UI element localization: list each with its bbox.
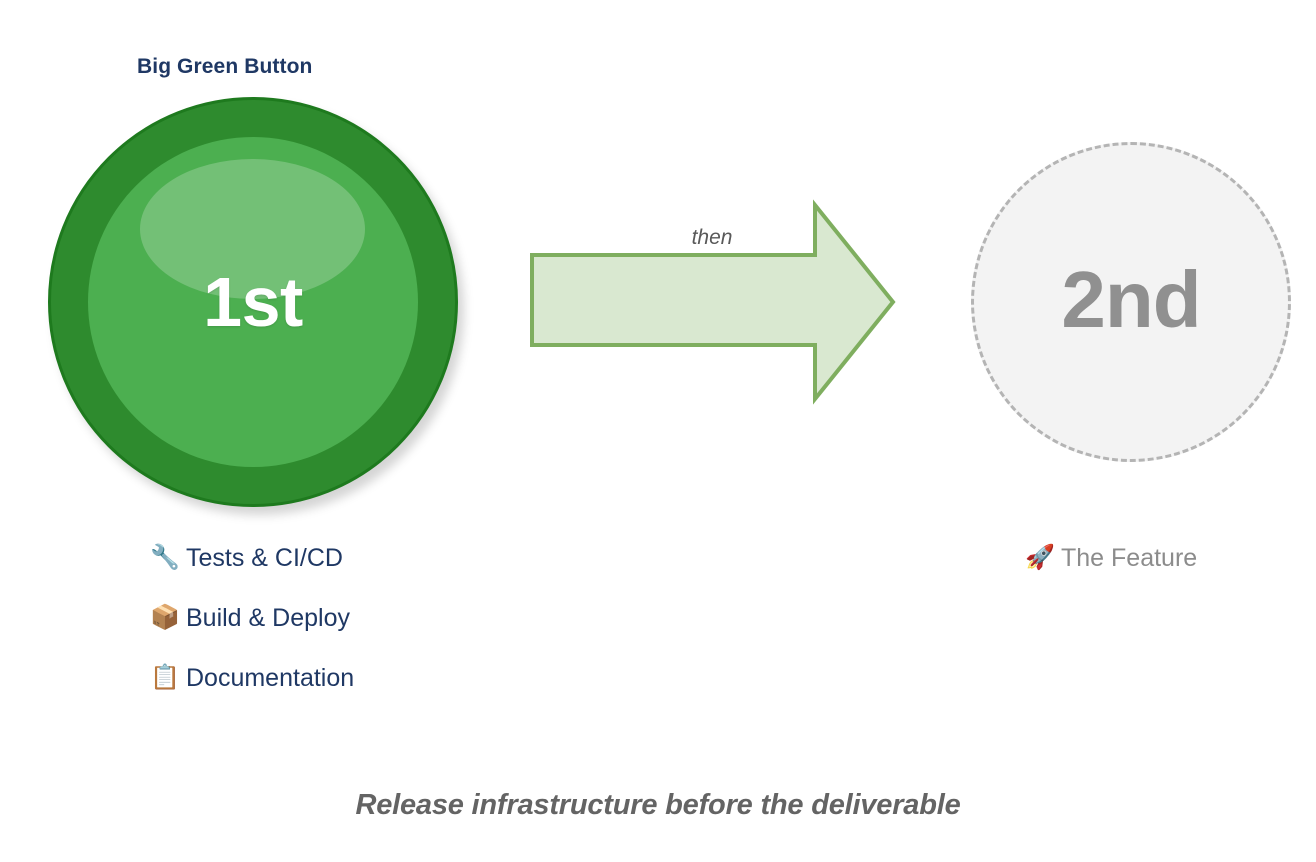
list-item[interactable]: 🚀 The Feature bbox=[1025, 528, 1316, 588]
clipboard-icon: 📋 bbox=[150, 666, 186, 690]
big-green-button[interactable]: 1st bbox=[48, 97, 458, 507]
list-item[interactable]: 📦 Build & Deploy bbox=[150, 588, 570, 648]
package-icon: 📦 bbox=[150, 606, 186, 630]
list-item-label: Documentation bbox=[186, 664, 354, 693]
connector-label: then bbox=[612, 226, 812, 250]
list-item-label: Build & Deploy bbox=[186, 604, 350, 633]
page-title: Big Green Button bbox=[137, 55, 312, 79]
rocket-icon: 🚀 bbox=[1025, 546, 1061, 570]
list-item[interactable]: 📋 Documentation bbox=[150, 648, 570, 708]
then-arrow-icon bbox=[520, 192, 910, 412]
list-item-label: The Feature bbox=[1061, 544, 1197, 573]
button-order-label: 1st bbox=[48, 97, 458, 507]
list-item-label: Tests & CI/CD bbox=[186, 544, 343, 573]
infrastructure-list: 🔧 Tests & CI/CD 📦 Build & Deploy 📋 Docum… bbox=[150, 528, 570, 708]
wrench-icon: 🔧 bbox=[150, 546, 186, 570]
deliverable-list: 🚀 The Feature bbox=[1025, 528, 1316, 588]
diagram-canvas: Big Green Button 1st then 2nd 🔧 Tests & … bbox=[0, 0, 1316, 862]
second-step-circle[interactable]: 2nd bbox=[971, 142, 1291, 462]
second-step-label: 2nd bbox=[1061, 254, 1200, 346]
diagram-caption: Release infrastructure before the delive… bbox=[0, 789, 1316, 822]
list-item[interactable]: 🔧 Tests & CI/CD bbox=[150, 528, 570, 588]
